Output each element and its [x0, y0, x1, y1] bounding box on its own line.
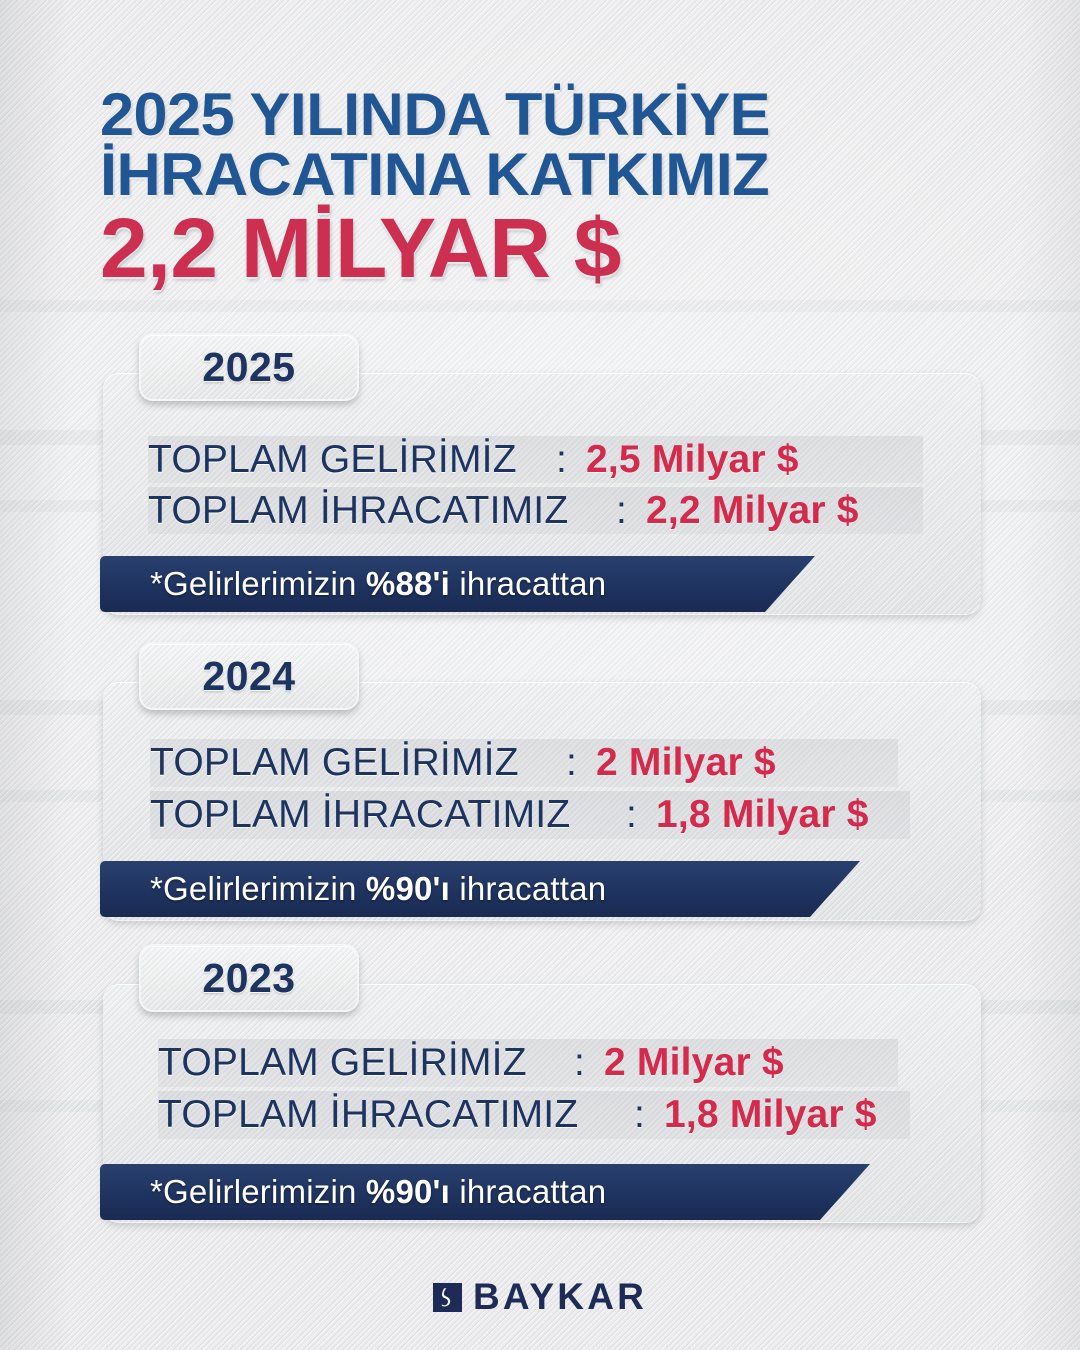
footnote-banner-2025: *Gelirlerimizin %88'i ihracattan — [100, 556, 815, 612]
row-colon: : — [626, 793, 656, 837]
table-row: TOPLAM GELİRİMİZ : 2,5 Milyar $ — [148, 436, 923, 483]
table-row: TOPLAM İHRACATIMIZ : 1,8 Milyar $ — [150, 791, 910, 839]
row-value: 2 Milyar $ — [596, 741, 776, 785]
table-row: TOPLAM İHRACATIMIZ : 1,8 Milyar $ — [158, 1091, 910, 1139]
footnote-banner-2024: *Gelirlerimizin %90'ı ihracattan — [100, 861, 860, 917]
year-tab-label: 2025 — [202, 344, 295, 391]
baykar-wordmark: BAYKAR — [473, 1276, 647, 1318]
row-label: TOPLAM GELİRİMİZ — [148, 438, 556, 482]
footnote-suffix: ihracattan — [450, 870, 606, 907]
row-label: TOPLAM GELİRİMİZ — [150, 741, 566, 785]
footnote-percent: %90'ı — [366, 870, 450, 907]
footnote-text: *Gelirlerimizin %90'ı ihracattan — [100, 1173, 606, 1211]
baykar-logo: BAYKAR — [0, 1276, 1080, 1318]
footnote-text: *Gelirlerimizin %88'i ihracattan — [100, 565, 606, 603]
year-tab-2024: 2024 — [139, 642, 359, 710]
row-colon: : — [616, 489, 646, 533]
row-value: 1,8 Milyar $ — [664, 1093, 877, 1137]
table-row: TOPLAM GELİRİMİZ : 2 Milyar $ — [158, 1039, 898, 1087]
row-colon: : — [574, 1041, 604, 1085]
headline-line-2: İHRACATINA KATKIMIZ — [100, 146, 1018, 204]
footnote-percent: %88'i — [366, 565, 450, 602]
footnote-percent: %90'ı — [366, 1173, 450, 1210]
footnote-prefix: *Gelirlerimizin — [150, 870, 366, 907]
row-colon: : — [634, 1093, 664, 1137]
row-label: TOPLAM İHRACATIMIZ — [150, 793, 626, 837]
row-colon: : — [556, 438, 586, 482]
headline-amount: 2,2 MİLYAR $ — [100, 208, 1018, 289]
table-row: TOPLAM GELİRİMİZ : 2 Milyar $ — [150, 739, 898, 787]
table-row: TOPLAM İHRACATIMIZ : 2,2 Milyar $ — [148, 487, 923, 534]
headline-line-1: 2025 YILINDA TÜRKİYE — [100, 86, 1018, 144]
row-value: 2,5 Milyar $ — [586, 438, 799, 482]
footnote-text: *Gelirlerimizin %90'ı ihracattan — [100, 870, 606, 908]
footnote-suffix: ihracattan — [450, 565, 606, 602]
year-tab-2023: 2023 — [139, 944, 359, 1012]
row-label: TOPLAM İHRACATIMIZ — [158, 1093, 634, 1137]
row-value: 2,2 Milyar $ — [646, 489, 859, 533]
footnote-banner-2023: *Gelirlerimizin %90'ı ihracattan — [100, 1164, 870, 1220]
year-tab-label: 2023 — [202, 955, 295, 1002]
footnote-prefix: *Gelirlerimizin — [150, 1173, 366, 1210]
infographic-canvas: 2025 YILINDA TÜRKİYE İHRACATINA KATKIMIZ… — [0, 0, 1080, 1350]
row-value: 2 Milyar $ — [604, 1041, 784, 1085]
row-colon: : — [566, 741, 596, 785]
row-label: TOPLAM İHRACATIMIZ — [148, 489, 616, 533]
footnote-suffix: ihracattan — [450, 1173, 606, 1210]
footnote-prefix: *Gelirlerimizin — [150, 565, 366, 602]
year-tab-2025: 2025 — [139, 333, 359, 401]
year-tab-label: 2024 — [202, 653, 295, 700]
row-value: 1,8 Milyar $ — [656, 793, 869, 837]
baykar-b-mark-icon — [433, 1283, 462, 1312]
row-label: TOPLAM GELİRİMİZ — [158, 1041, 574, 1085]
headline-block: 2025 YILINDA TÜRKİYE İHRACATINA KATKIMIZ… — [100, 86, 1000, 290]
